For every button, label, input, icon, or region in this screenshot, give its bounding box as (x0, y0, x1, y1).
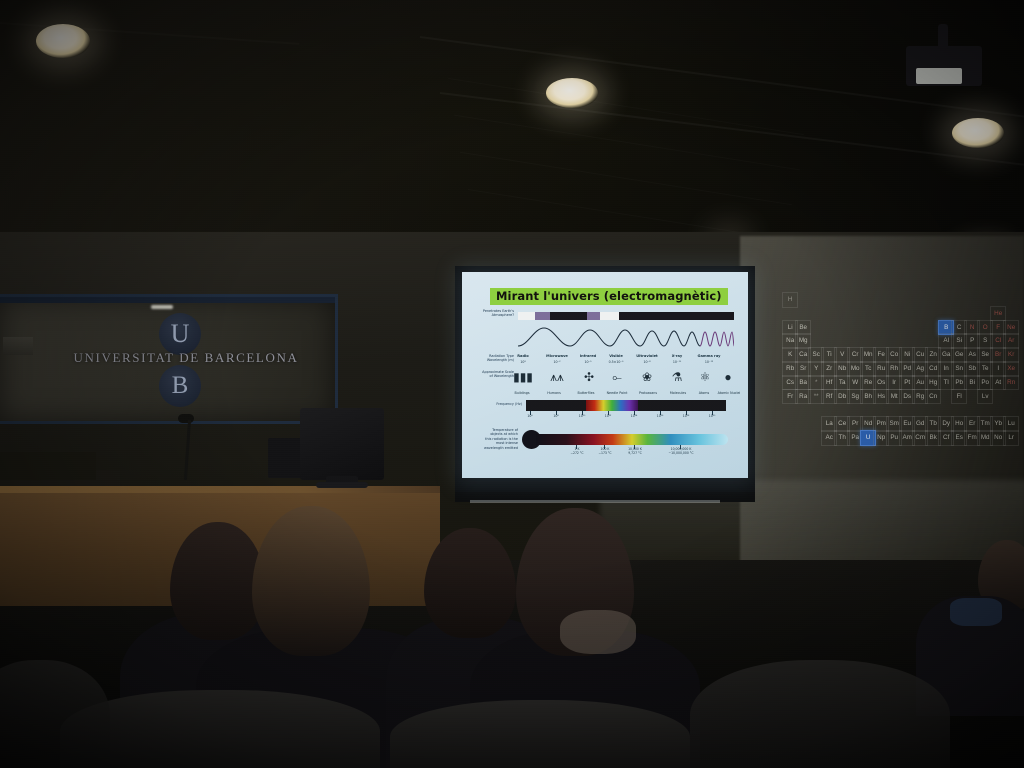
slide-title: Mirant l'univers (electromagnètic) (490, 288, 728, 305)
atomic-nucleus-icon: ● (716, 370, 740, 384)
projection-screen-weight-bar (470, 500, 720, 503)
frequency-tick-label: 10¹⁸ (676, 414, 696, 418)
temperature-label: 10,000 K9,727 °C (618, 447, 652, 455)
radiation-type-label: Gamma ray (692, 354, 726, 359)
radiation-wavelength: 10⁻¹² (692, 360, 726, 364)
lectern-desk-top (0, 486, 440, 493)
banner-top-rail (0, 297, 335, 303)
attendee-shoulder-highlight (950, 598, 1002, 626)
protozoan-icon: ❀ (632, 370, 662, 384)
row-label-frequency: Frequency (Hz) (470, 402, 522, 406)
student-scarf (560, 610, 636, 654)
ceiling (0, 0, 1024, 268)
scale-object-label: Buildings (506, 391, 538, 395)
radiation-type-label: Infrared (573, 354, 603, 359)
periodic-table-poster: HHeLiBeBCNOFNeNaMgAlSiPSClArKCaScTiVCrMn… (782, 292, 1014, 452)
radiation-type-label: Microwave (540, 354, 574, 359)
element-cell-Fl: Fl (951, 389, 967, 405)
projector-mount-arm (938, 24, 948, 50)
university-crest-icon (3, 337, 33, 355)
atmosphere-penetration-bar (518, 312, 734, 320)
monitor-base (316, 482, 368, 488)
frequency-tick-label: 10⁶ (520, 414, 540, 418)
radiation-wavelength: 10⁻⁸ (631, 360, 663, 364)
radiation-type-label: Visible (602, 354, 630, 359)
projection-screen: Mirant l'univers (electromagnètic) Penet… (462, 272, 748, 478)
radiation-wavelength: 0.5×10⁻⁶ (598, 360, 634, 364)
radiation-type-label: X-ray (664, 354, 690, 359)
element-cell-Rn: Rn (1003, 375, 1019, 391)
ceiling-light (36, 24, 90, 58)
human-figure-icon: ⩚⩚ (542, 370, 572, 384)
temperature-label: 1 K−272 °C (562, 447, 592, 455)
scale-object-label: Protozoans (631, 391, 665, 395)
seat-backrest (390, 700, 690, 768)
scale-object-label: Atomic Nuclei (712, 391, 746, 395)
scale-object-label: Needle Point (599, 391, 635, 395)
row-label-atmosphere: Penetrates Earth'sAtmosphere? (470, 309, 514, 318)
radio-towers-icon: ▮▮▮ (508, 370, 538, 384)
projector-lens (916, 68, 962, 84)
element-cell-Cn: Cn (925, 389, 941, 405)
lectern-monitor (300, 408, 384, 480)
seat-backrest (690, 660, 950, 768)
ub-logo-u-icon: U (159, 313, 201, 355)
ceiling-shading (0, 0, 1024, 268)
element-cell-H: H (782, 292, 798, 308)
ub-logo-b-icon: B (159, 365, 201, 407)
university-name-text: UNIVERSITAT DE BARCELONA (61, 350, 311, 366)
radiation-wavelength: 10⁻² (540, 360, 574, 364)
desk-equipment-box (0, 452, 96, 480)
frequency-tick-label: 10⁸ (546, 414, 566, 418)
wavelength-wave-graphic (518, 322, 734, 352)
element-cell-Lr: Lr (1003, 430, 1019, 446)
slide-content: Mirant l'univers (electromagnètic) Penet… (468, 278, 742, 470)
frequency-tick-label: 10¹² (598, 414, 618, 418)
scale-object-label: Humans (538, 391, 570, 395)
university-banner: U B UNIVERSITAT DE BARCELONA (0, 294, 338, 424)
frequency-tick-label: 10¹⁰ (572, 414, 592, 418)
ceiling-light (546, 78, 598, 108)
microphone-head-icon (178, 414, 194, 423)
frequency-tick-label: 10²⁰ (702, 414, 722, 418)
thermometer-scale (536, 434, 728, 445)
lecture-hall-photo: U B UNIVERSITAT DE BARCELONA Mirant l'un… (0, 0, 1024, 768)
banner-light-glint (151, 305, 173, 309)
temperature-label: 100 K−173 °C (590, 447, 620, 455)
butterfly-icon: ✣ (574, 370, 604, 384)
frequency-tick-label: 10¹⁴ (624, 414, 644, 418)
ceiling-light (952, 118, 1004, 148)
scale-object-label: Butterflies (570, 391, 602, 395)
student-head (424, 528, 516, 638)
element-cell-Lv: Lv (977, 389, 993, 405)
molecule-icon: ⚗ (662, 370, 692, 384)
row-label-temperature: Temperature ofobjects at whichthis radia… (468, 428, 518, 450)
radiation-type-label: Ultraviolet (631, 354, 663, 359)
radiation-wavelength: 10³ (508, 360, 538, 364)
radiation-type-label: Radio (508, 354, 538, 359)
radiation-wavelength: 10⁻¹⁰ (664, 360, 690, 364)
frequency-tick-label: 10¹⁶ (650, 414, 670, 418)
visible-spectrum-band (586, 400, 638, 411)
needle-point-icon: ⟜ (602, 370, 632, 384)
temperature-label: 10,000,000 K~10,000,000 °C (656, 447, 706, 455)
ceiling-projector (906, 46, 982, 86)
